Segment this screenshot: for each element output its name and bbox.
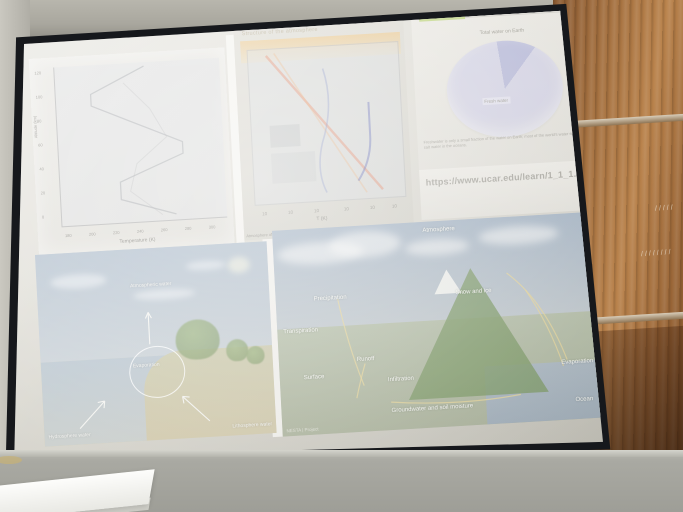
phase-xtick: 10 (262, 211, 267, 216)
line-chart-xtick: 180 (65, 233, 72, 238)
line-chart-plot: 120 100 80 60 40 20 0 180 200 220 240 26… (53, 58, 227, 228)
phase-xtick: 10 (370, 205, 375, 210)
projection-screen: 120 100 80 60 40 20 0 180 200 220 240 26… (2, 2, 614, 468)
line-chart-xtick: 240 (137, 228, 144, 233)
panel-water-cycle: Atmosphere Precipitation Snow and ice Tr… (272, 212, 602, 437)
phase-xtick: 10 (314, 208, 319, 213)
cycle-label-ocean: Ocean (575, 396, 593, 403)
pie-chart-graphic: Fresh water (444, 37, 565, 140)
line-chart-ytick: 60 (38, 142, 43, 147)
line-chart-ytick: 20 (41, 190, 46, 195)
phase-xtick: 10 (344, 206, 349, 211)
water-cycle-arrows (272, 212, 602, 437)
line-chart-xtick: 200 (89, 231, 96, 236)
line-chart-xlabel: Temperature (K) (119, 237, 155, 245)
projected-slide: 120 100 80 60 40 20 0 180 200 220 240 26… (10, 2, 610, 455)
line-chart-xtick: 280 (185, 226, 192, 231)
line-chart-ytick: 40 (39, 166, 44, 171)
line-chart-ytick: 100 (36, 94, 43, 99)
phase-xtick: 10 (288, 210, 293, 215)
pie-disc (444, 37, 565, 140)
cycle-label-runoff: Runoff (357, 356, 375, 363)
line-chart-xtick: 260 (161, 227, 168, 232)
source-url-link[interactable]: https://www.ucar.edu/learn/1_1_1.htm (423, 168, 595, 189)
panel-hydrosphere-photo: Atmospheric water Evaporation Hydrospher… (35, 241, 277, 447)
line-chart-xtick: 220 (113, 230, 120, 235)
photo-scene: EXIT ///// //////// 120 100 80 60 40 20 … (0, 0, 683, 512)
panel-phase-diagram: Structure of the atmosphere 10 10 10 10 (233, 19, 414, 241)
phase-diagram-plot: 10 10 10 10 10 10 T (K) (247, 41, 407, 206)
line-chart-xtick: 300 (209, 224, 216, 229)
cycle-label-surface: Surface (304, 374, 325, 381)
panel-source-url: https://www.ucar.edu/learn/1_1_1.htm (419, 159, 601, 220)
hydro-arrows (35, 241, 277, 447)
phase-diagram-xlabel: T (K) (316, 216, 327, 223)
desk-edge (0, 450, 683, 457)
wood-mark-upper: ///// (655, 204, 675, 212)
line-chart-curve (54, 58, 227, 223)
phase-diagram-curves (248, 42, 406, 201)
phase-xtick: 10 (392, 203, 397, 208)
line-chart-ytick: 120 (34, 70, 41, 75)
panel-line-chart: 120 100 80 60 40 20 0 180 200 220 240 26… (29, 47, 235, 254)
line-chart-ytick: 0 (42, 214, 44, 219)
